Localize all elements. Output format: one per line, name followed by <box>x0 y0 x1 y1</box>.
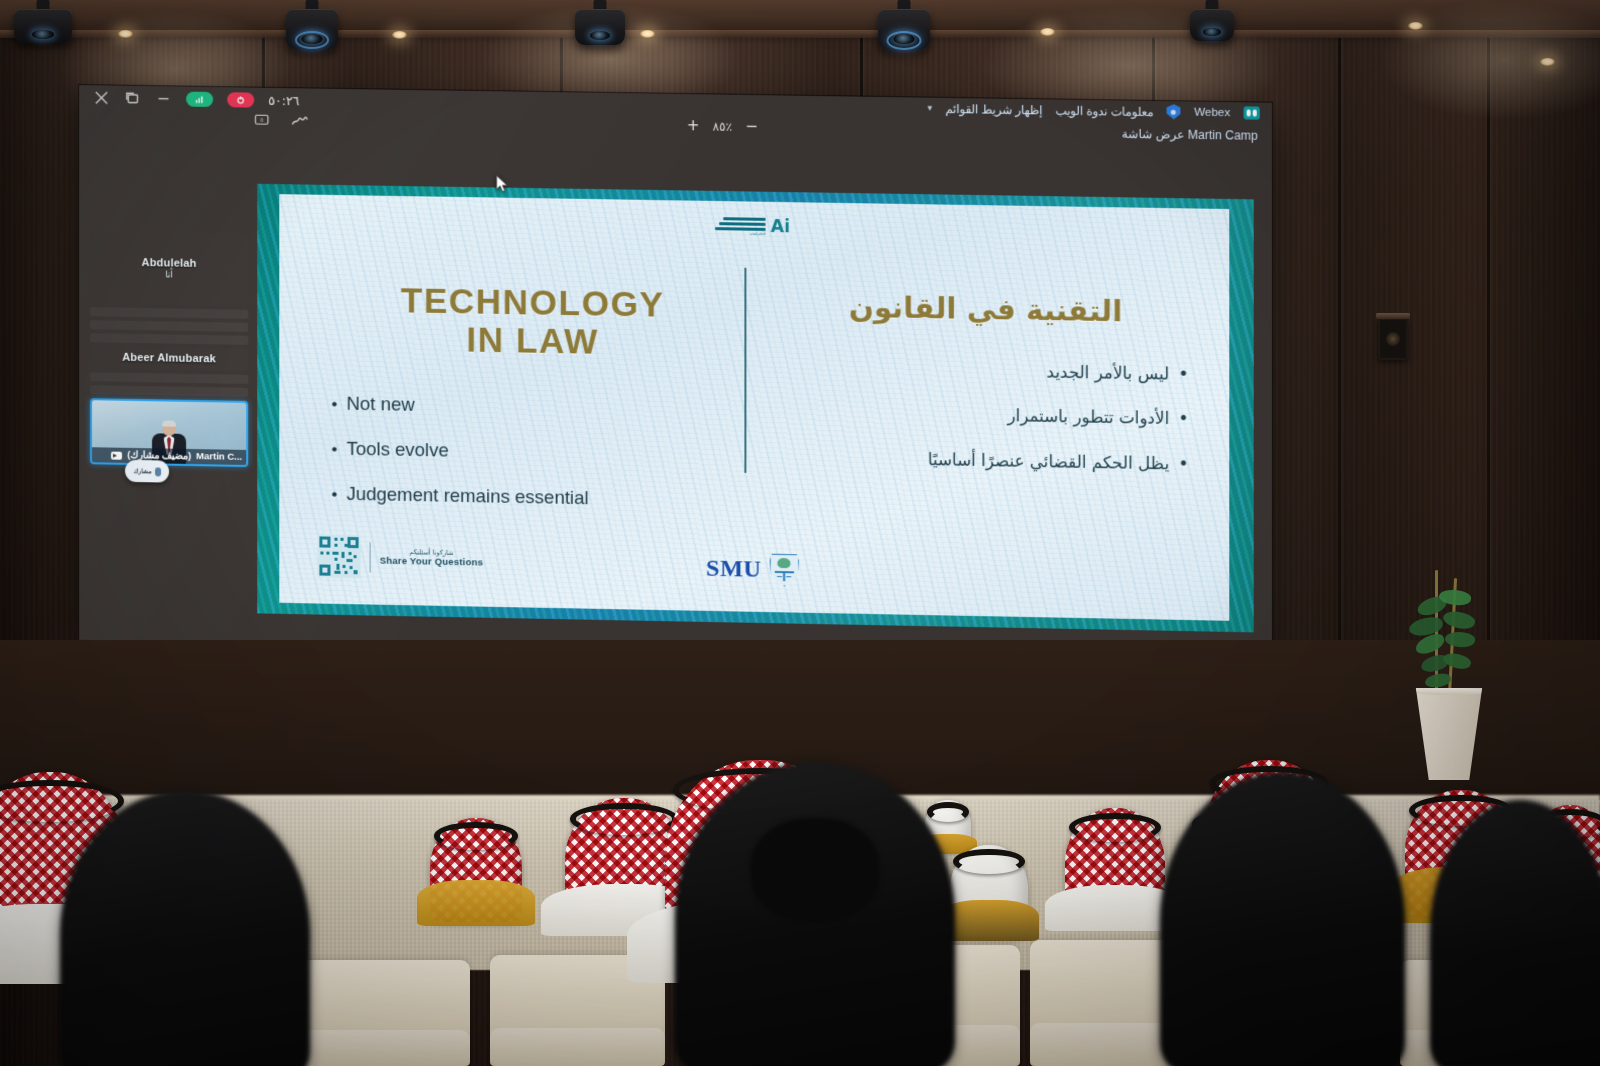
organization-logo-mark: Ai <box>771 219 790 236</box>
participant-tile-placeholder[interactable] <box>90 307 248 319</box>
audience-member-abaya <box>60 790 310 1066</box>
smu-logo-block: SMU <box>706 553 799 587</box>
slide-bullets-english: • Not new • Tools evolve • Judgement rem… <box>331 391 734 512</box>
participant-rail: Abdulelah أنا Abeer Almubarak <box>90 231 248 467</box>
participant-name: Martin C... <box>196 451 242 463</box>
screenshot-root: ٥٠:٢٦ ٥ + ٨٥٪ − ▾ إظهار شريط القوائم مع <box>0 0 1600 1066</box>
bullet-text: الأدوات تتطور باستمرار <box>1008 406 1170 430</box>
slide-title-arabic: التقنية في القانون <box>783 289 1189 331</box>
bullet-text: Tools evolve <box>346 436 448 461</box>
leave-meeting-pill[interactable] <box>227 92 254 107</box>
list-item: • يظل الحكم القضائي عنصرًا أساسيًا <box>783 447 1189 475</box>
ceiling-downlight <box>1540 58 1555 66</box>
qr-caption-english: Share Your Questions <box>380 555 483 569</box>
stage-light-fixture <box>575 0 625 36</box>
wall-speaker <box>1378 318 1408 360</box>
bullet-glyph: • <box>1178 366 1188 383</box>
power-icon <box>236 95 245 104</box>
meeting-timer: ٥٠:٢٦ <box>268 93 299 108</box>
list-item: • Not new <box>331 391 734 421</box>
participant-name: Abdulelah <box>142 257 197 270</box>
audience-member <box>1065 808 1165 924</box>
webinar-info-label[interactable]: معلومات ندوة الويب <box>1056 103 1154 119</box>
svg-text:٥: ٥ <box>260 117 263 123</box>
ceiling-downlight <box>640 30 655 38</box>
participant-tile-abdulelah[interactable]: Abdulelah أنا <box>90 231 248 306</box>
stage-light-fixture <box>878 0 930 40</box>
list-item: • ليس بالأمر الجديد <box>783 358 1189 386</box>
zoom-in-button[interactable]: + <box>687 118 700 133</box>
microphone-icon <box>155 467 161 476</box>
bullet-glyph: • <box>1178 456 1188 473</box>
ceiling-downlight <box>118 30 133 38</box>
self-view-badge[interactable]: مشارك <box>125 460 169 483</box>
ceiling-downlight <box>1040 28 1055 36</box>
bullet-glyph: • <box>1178 411 1188 428</box>
audience-member <box>430 818 522 922</box>
slide-divider <box>745 268 747 473</box>
participant-tile-placeholder[interactable] <box>90 385 248 397</box>
slide-column-arabic: التقنية في القانون • ليس بالأمر الجديد •… <box>783 289 1189 500</box>
zoom-level-label: ٨٥٪ <box>713 119 733 133</box>
shield-icon <box>1167 104 1181 119</box>
participant-tile-placeholder[interactable] <box>90 372 248 384</box>
bullet-glyph: • <box>331 395 337 412</box>
mouse-cursor <box>495 174 508 193</box>
slide-bullets-arabic: • ليس بالأمر الجديد • الأدوات تتطور باست… <box>783 358 1189 476</box>
restore-window-icon[interactable] <box>124 90 141 107</box>
ceiling-soffit <box>0 0 1600 34</box>
stage-light-fixture <box>286 0 338 40</box>
bullet-glyph: • <box>331 440 337 457</box>
slide-title-english-line2: IN LAW <box>331 319 734 364</box>
list-item: • الأدوات تتطور باستمرار <box>783 403 1189 431</box>
slide-column-english: TECHNOLOGY IN LAW • Not new • Tools evol… <box>331 281 734 534</box>
app-name-label: Webex <box>1194 106 1230 119</box>
slide-frame: الأحكام العدلية Ai TECHNOLOGY IN LAW • N… <box>257 184 1254 633</box>
smu-wordmark: SMU <box>706 555 761 583</box>
qr-code-image <box>317 534 360 578</box>
webex-logo-icon <box>1244 106 1260 119</box>
bullet-text: Judgement remains essential <box>346 482 588 510</box>
participant-tile-martin-video[interactable]: (مضيف مشارك) Martin C... <box>90 398 248 467</box>
slide-canvas: الأحكام العدلية Ai TECHNOLOGY IN LAW • N… <box>279 194 1229 621</box>
chrome-right-group: ▾ إظهار شريط القوائم معلومات ندوة الويب … <box>927 101 1259 121</box>
ceiling-downlight <box>1408 22 1423 30</box>
qr-block: شاركونا أسئلتكم Share Your Questions <box>317 534 483 580</box>
participant-tile-abeer[interactable]: Abeer Almubarak <box>90 346 248 371</box>
chair <box>300 960 470 1066</box>
audience-member <box>950 845 1028 937</box>
share-display-icon[interactable]: ٥ <box>254 114 269 127</box>
potted-plant <box>1385 560 1515 780</box>
camera-icon <box>111 451 122 459</box>
list-item: • Judgement remains essential <box>331 481 734 511</box>
bullet-text: Not new <box>346 391 414 415</box>
bullet-text: ليس بالأمر الجديد <box>1047 362 1170 385</box>
participant-name: Abeer Almubarak <box>122 352 216 366</box>
ceiling-downlight <box>392 31 407 39</box>
minimize-icon[interactable] <box>155 90 172 107</box>
participant-self-label: أنا <box>165 269 173 280</box>
audience-member-abaya <box>1430 800 1600 1066</box>
menubar-toggle-label[interactable]: إظهار شريط القوائم <box>945 101 1042 117</box>
bullet-text: يظل الحكم القضائي عنصرًا أساسيًا <box>928 450 1169 475</box>
list-item: • Tools evolve <box>331 436 734 466</box>
connection-status-pill[interactable] <box>186 92 213 107</box>
video-tile-label: (مضيف مشارك) Martin C... <box>92 447 246 465</box>
projection-screen: ٥٠:٢٦ ٥ + ٨٥٪ − ▾ إظهار شريط القوائم مع <box>79 85 1272 663</box>
stage-light-fixture <box>1190 0 1234 32</box>
planter <box>1403 688 1495 780</box>
zoom-controls: + ٨٥٪ − <box>687 118 758 134</box>
self-view-label: مشارك <box>133 467 151 474</box>
participant-tile-placeholder[interactable] <box>90 320 248 332</box>
soffit-lip <box>0 30 1600 38</box>
organization-logo-label: الأحكام العدلية <box>750 233 766 236</box>
audience-member-abaya <box>1160 772 1405 1066</box>
smu-crest-icon <box>770 554 799 587</box>
participant-tile-placeholder[interactable] <box>90 333 248 345</box>
stage-light-fixture <box>14 0 72 34</box>
bullet-glyph: • <box>331 485 337 502</box>
zoom-out-button[interactable]: − <box>745 119 758 134</box>
signal-bars-icon <box>195 95 204 104</box>
slide-title-english: TECHNOLOGY IN LAW <box>331 281 734 364</box>
share-banner: عرض شاشة Martin Camp <box>1122 127 1258 143</box>
chevron-down-icon[interactable]: ▾ <box>927 103 932 114</box>
organization-logo: الأحكام العدلية Ai <box>715 217 790 236</box>
close-icon[interactable] <box>93 89 110 106</box>
annotate-pen-icon[interactable] <box>291 114 308 127</box>
audience-member-abaya <box>675 762 955 1066</box>
